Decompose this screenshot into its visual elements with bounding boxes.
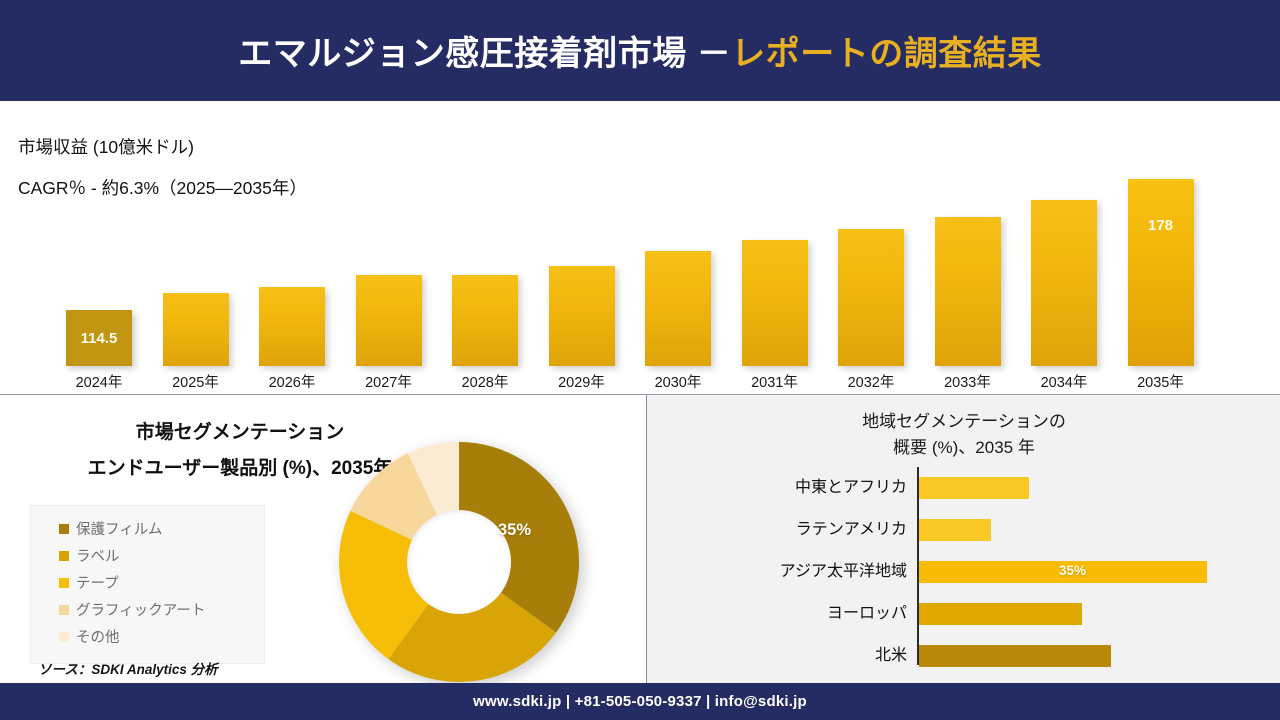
revenue-bar-category-label: 2035年 (1116, 371, 1206, 392)
region-bar-value: 35% (1059, 563, 1086, 578)
revenue-bar-category-label: 2031年 (730, 371, 820, 392)
legend-swatch-icon (59, 524, 69, 534)
legend-item: ラベル (59, 545, 254, 566)
revenue-bar-column: 114.52024年 (66, 310, 132, 366)
legend-item: その他 (59, 626, 254, 647)
legend-item-label: グラフィックアート (76, 599, 205, 620)
revenue-bar-category-label: 2024年 (54, 371, 144, 392)
revenue-bar: 2029年 (549, 266, 615, 366)
legend-item-label: 保護フィルム (76, 518, 162, 539)
page-footer: www.sdki.jp | +81-505-050-9337 | info@sd… (0, 683, 1280, 720)
region-bar-label: 北米 (875, 645, 907, 667)
revenue-bar: 2031年 (742, 240, 808, 366)
revenue-bar-column: 2034年 (1031, 200, 1097, 366)
revenue-bar-value: 178 (1128, 217, 1194, 234)
revenue-bar-category-label: 2032年 (826, 371, 916, 392)
revenue-bar-column: 2031年 (742, 240, 808, 366)
region-bar-row: ヨーロッパ (917, 603, 1247, 625)
region-bar-row: 中東とアフリカ (917, 477, 1247, 499)
legend-swatch-icon (59, 632, 69, 642)
region-bar-row: アジア太平洋地域35% (917, 561, 1247, 583)
legend-swatch-icon (59, 551, 69, 561)
region-bar-label: 中東とアフリカ (795, 477, 907, 499)
region-bar-label: アジア太平洋地域 (780, 561, 907, 583)
revenue-bar: 2032年 (838, 229, 904, 366)
revenue-bar-column: 2030年 (645, 251, 711, 366)
region-title: 地域セグメンテーションの 概要 (%)、2035 年 (647, 409, 1280, 461)
revenue-bar-category-label: 2027年 (344, 371, 434, 392)
region-panel: 地域セグメンテーションの 概要 (%)、2035 年 中東とアフリカラテンアメリ… (646, 395, 1280, 683)
page-title-accent: レポートの調査結果 (731, 35, 1042, 73)
region-bar: 35% (919, 561, 1207, 583)
revenue-bar-category-label: 2028年 (440, 371, 530, 392)
revenue-bar-column: 2029年 (549, 266, 615, 366)
revenue-bar-column: 2026年 (259, 287, 325, 366)
segmentation-legend: 保護フィルムラベルテープグラフィックアートその他 (30, 505, 265, 664)
revenue-bar-category-label: 2026年 (247, 371, 337, 392)
revenue-bar-column: 2028年 (452, 275, 518, 366)
source-note: ソース：SDKI Analytics 分析 (38, 658, 218, 678)
revenue-bar-column: 2027年 (356, 275, 422, 366)
revenue-bar: 2034年 (1031, 200, 1097, 366)
revenue-bar-chart: 114.52024年2025年2026年2027年2028年2029年2030年… (40, 101, 1240, 394)
donut-value-label: 35% (498, 521, 531, 540)
revenue-bar-value: 114.5 (66, 330, 132, 347)
legend-swatch-icon (59, 578, 69, 588)
revenue-bar-category-label: 2034年 (1019, 371, 1109, 392)
region-bar (919, 519, 991, 541)
infographic-page: エマルジョン感圧接着剤市場 －レポートの調査結果 市場収益 (10億米ドル) C… (0, 0, 1280, 720)
revenue-bar-category-label: 2029年 (537, 371, 627, 392)
legend-item: グラフィックアート (59, 599, 254, 620)
revenue-bar-column: 2025年 (163, 293, 229, 366)
revenue-bar: 114.52024年 (66, 310, 132, 366)
legend-swatch-icon (59, 605, 69, 615)
revenue-bar: 2026年 (259, 287, 325, 366)
page-title-dash: － (687, 35, 731, 73)
bottom-section: 市場セグメンテーション エンドユーザー製品別 (%)、2035年 保護フィルムラ… (0, 395, 1280, 683)
revenue-bar-category-label: 2030年 (633, 371, 723, 392)
region-bar (919, 603, 1082, 625)
revenue-bar-column: 2033年 (935, 217, 1001, 366)
region-title-line2: 概要 (%)、2035 年 (893, 438, 1035, 457)
region-bar-row: ラテンアメリカ (917, 519, 1247, 541)
revenue-bar-category-label: 2025年 (151, 371, 241, 392)
donut-hole (407, 510, 511, 614)
legend-item: テープ (59, 572, 254, 593)
region-title-line1: 地域セグメンテーションの (862, 412, 1066, 431)
legend-item-label: テープ (76, 572, 119, 593)
revenue-bar: 2030年 (645, 251, 711, 366)
revenue-bar: 2028年 (452, 275, 518, 366)
revenue-bar: 2025年 (163, 293, 229, 366)
segmentation-panel: 市場セグメンテーション エンドユーザー製品別 (%)、2035年 保護フィルムラ… (0, 395, 646, 683)
region-bar-label: ヨーロッパ (827, 603, 907, 625)
revenue-bar: 1782035年 (1128, 179, 1194, 366)
revenue-bar-column: 2032年 (838, 229, 904, 366)
region-bar-label: ラテンアメリカ (796, 519, 907, 541)
footer-contact: www.sdki.jp | +81-505-050-9337 | info@sd… (473, 693, 807, 710)
region-bar (919, 645, 1111, 667)
page-header: エマルジョン感圧接着剤市場 －レポートの調査結果 (0, 0, 1280, 101)
legend-item: 保護フィルム (59, 518, 254, 539)
legend-item-label: その他 (76, 626, 120, 647)
revenue-bar-category-label: 2033年 (923, 371, 1013, 392)
legend-item-label: ラベル (76, 545, 120, 566)
revenue-bar: 2033年 (935, 217, 1001, 366)
region-bar-chart: 中東とアフリカラテンアメリカアジア太平洋地域35%ヨーロッパ北米 (917, 467, 1247, 665)
revenue-bar-column: 1782035年 (1128, 179, 1194, 366)
region-bar-row: 北米 (917, 645, 1247, 667)
revenue-bar: 2027年 (356, 275, 422, 366)
donut-chart: 35% (330, 433, 600, 683)
revenue-chart-section: 市場収益 (10億米ドル) CAGR％ - 約6.3%（2025―2035年） … (0, 101, 1280, 394)
page-title-main: エマルジョン感圧接着剤市場 (238, 35, 687, 73)
region-bar (919, 477, 1029, 499)
page-title: エマルジョン感圧接着剤市場 －レポートの調査結果 (238, 26, 1041, 75)
